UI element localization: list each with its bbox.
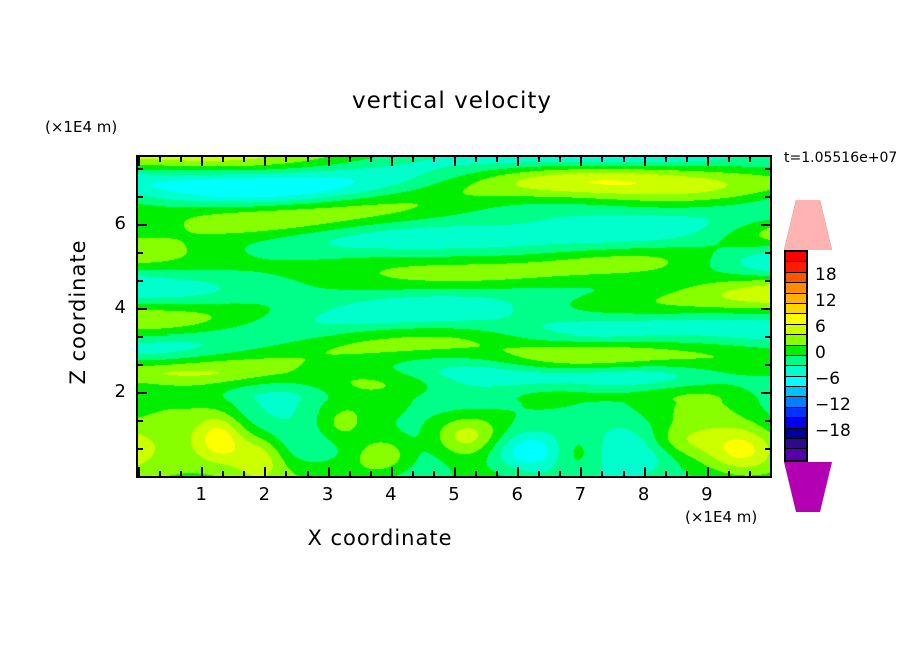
colorbar-band: [786, 262, 806, 272]
colorbar-tick-label: −12: [815, 395, 851, 415]
y-minor-tick: [765, 476, 770, 478]
x-minor-tick: [601, 157, 603, 162]
x-major-tick: [391, 467, 393, 476]
y-major-tick: [138, 308, 147, 310]
colorbar-band: [786, 408, 806, 418]
y-tick-label: 4: [86, 297, 126, 318]
y-major-tick: [761, 308, 770, 310]
x-minor-tick: [412, 471, 414, 476]
x-minor-tick: [433, 157, 435, 162]
x-minor-tick: [180, 471, 182, 476]
x-tick-label: 5: [434, 484, 474, 505]
y-minor-tick: [765, 364, 770, 366]
x-minor-tick: [433, 471, 435, 476]
x-major-tick: [580, 157, 582, 166]
x-major-tick: [264, 467, 266, 476]
x-major-tick: [328, 157, 330, 166]
x-minor-tick: [665, 471, 667, 476]
y-minor-tick: [138, 168, 143, 170]
colorbar-tick-label: 6: [815, 317, 826, 337]
y-minor-tick: [138, 252, 143, 254]
colorbar-band: [786, 273, 806, 283]
x-major-tick: [517, 467, 519, 476]
y-minor-tick: [138, 196, 143, 198]
x-major-tick: [138, 467, 140, 476]
colorbar-band: [786, 387, 806, 397]
x-minor-tick: [349, 157, 351, 162]
colorbar-band: [786, 377, 806, 387]
colorbar-tick-labels: 181260−6−12−18: [815, 250, 895, 462]
colorbar[interactable]: 181260−6−12−18: [775, 200, 904, 520]
colorbar-band: [786, 283, 806, 293]
colorbar-band: [786, 418, 806, 428]
y-major-tick: [138, 224, 147, 226]
x-minor-tick: [665, 157, 667, 162]
colorbar-band: [786, 314, 806, 324]
x-minor-tick: [728, 157, 730, 162]
y-minor-tick: [765, 196, 770, 198]
x-major-tick: [517, 157, 519, 166]
x-minor-tick: [307, 157, 309, 162]
colorbar-band: [786, 252, 806, 262]
x-minor-tick: [538, 471, 540, 476]
x-minor-tick: [475, 471, 477, 476]
y-major-tick: [138, 392, 147, 394]
x-minor-tick: [623, 157, 625, 162]
x-major-tick: [580, 467, 582, 476]
x-major-tick: [138, 157, 140, 166]
y-minor-tick: [138, 448, 143, 450]
x-minor-tick: [749, 471, 751, 476]
y-tick-label: 6: [86, 213, 126, 234]
x-minor-tick: [728, 471, 730, 476]
colorbar-over-cap: [784, 200, 832, 250]
x-axis-title: X coordinate: [0, 526, 760, 550]
y-tick-label: 2: [86, 381, 126, 402]
vertical-velocity-field: [138, 157, 770, 476]
x-major-tick: [644, 157, 646, 166]
x-minor-tick: [749, 157, 751, 162]
page-title: vertical velocity: [0, 88, 904, 114]
x-axis-units: (×1E4 m): [685, 508, 757, 526]
y-minor-tick: [765, 420, 770, 422]
x-major-tick: [201, 467, 203, 476]
x-minor-tick: [370, 157, 372, 162]
x-major-tick: [328, 467, 330, 476]
y-minor-tick: [765, 336, 770, 338]
x-tick-label: 2: [244, 484, 284, 505]
x-minor-tick: [349, 471, 351, 476]
x-major-tick: [770, 467, 772, 476]
x-minor-tick: [623, 471, 625, 476]
colorbar-bands: [784, 250, 808, 462]
x-tick-label: 3: [308, 484, 348, 505]
x-minor-tick: [285, 157, 287, 162]
contour-plot-area[interactable]: [136, 155, 772, 478]
x-major-tick: [644, 467, 646, 476]
y-minor-tick: [765, 252, 770, 254]
x-major-tick: [707, 467, 709, 476]
x-tick-label: 9: [687, 484, 727, 505]
colorbar-band: [786, 335, 806, 345]
x-minor-tick: [601, 471, 603, 476]
x-tick-label: 1: [181, 484, 221, 505]
colorbar-band: [786, 449, 806, 459]
x-major-tick: [201, 157, 203, 166]
x-major-tick: [707, 157, 709, 166]
x-minor-tick: [686, 471, 688, 476]
x-minor-tick: [559, 471, 561, 476]
colorbar-band: [786, 397, 806, 407]
y-minor-tick: [138, 420, 143, 422]
x-minor-tick: [686, 157, 688, 162]
x-minor-tick: [222, 157, 224, 162]
y-minor-tick: [138, 364, 143, 366]
x-minor-tick: [159, 157, 161, 162]
x-minor-tick: [496, 157, 498, 162]
colorbar-tick-label: 12: [815, 291, 837, 311]
colorbar-band: [786, 356, 806, 366]
y-major-tick: [761, 224, 770, 226]
x-minor-tick: [496, 471, 498, 476]
x-tick-label: 4: [371, 484, 411, 505]
y-minor-tick: [138, 280, 143, 282]
colorbar-band: [786, 439, 806, 449]
x-minor-tick: [475, 157, 477, 162]
x-minor-tick: [538, 157, 540, 162]
x-major-tick: [454, 157, 456, 166]
y-minor-tick: [765, 280, 770, 282]
x-major-tick: [770, 157, 772, 166]
colorbar-band: [786, 294, 806, 304]
x-minor-tick: [222, 471, 224, 476]
y-minor-tick: [138, 476, 143, 478]
x-minor-tick: [559, 157, 561, 162]
colorbar-band: [786, 304, 806, 314]
x-minor-tick: [285, 471, 287, 476]
y-minor-tick: [138, 336, 143, 338]
colorbar-band: [786, 366, 806, 376]
y-minor-tick: [765, 168, 770, 170]
colorbar-tick-label: 0: [815, 343, 826, 363]
x-minor-tick: [243, 157, 245, 162]
x-tick-label: 6: [497, 484, 537, 505]
x-major-tick: [454, 467, 456, 476]
x-minor-tick: [307, 471, 309, 476]
colorbar-band: [786, 325, 806, 335]
x-minor-tick: [370, 471, 372, 476]
colorbar-band: [786, 429, 806, 439]
colorbar-tick-label: −18: [815, 421, 851, 441]
colorbar-under-cap: [784, 462, 832, 512]
x-minor-tick: [243, 471, 245, 476]
x-minor-tick: [412, 157, 414, 162]
colorbar-tick-label: −6: [815, 369, 840, 389]
colorbar-tick-label: 18: [815, 265, 837, 285]
y-major-tick: [761, 392, 770, 394]
x-tick-label: 8: [624, 484, 664, 505]
y-axis-units: (×1E4 m): [45, 118, 117, 136]
y-minor-tick: [765, 448, 770, 450]
x-minor-tick: [180, 157, 182, 162]
x-minor-tick: [159, 471, 161, 476]
x-major-tick: [391, 157, 393, 166]
x-major-tick: [264, 157, 266, 166]
time-annotation: t=1.05516e+07: [784, 150, 897, 166]
colorbar-band: [786, 346, 806, 356]
x-tick-label: 7: [560, 484, 600, 505]
